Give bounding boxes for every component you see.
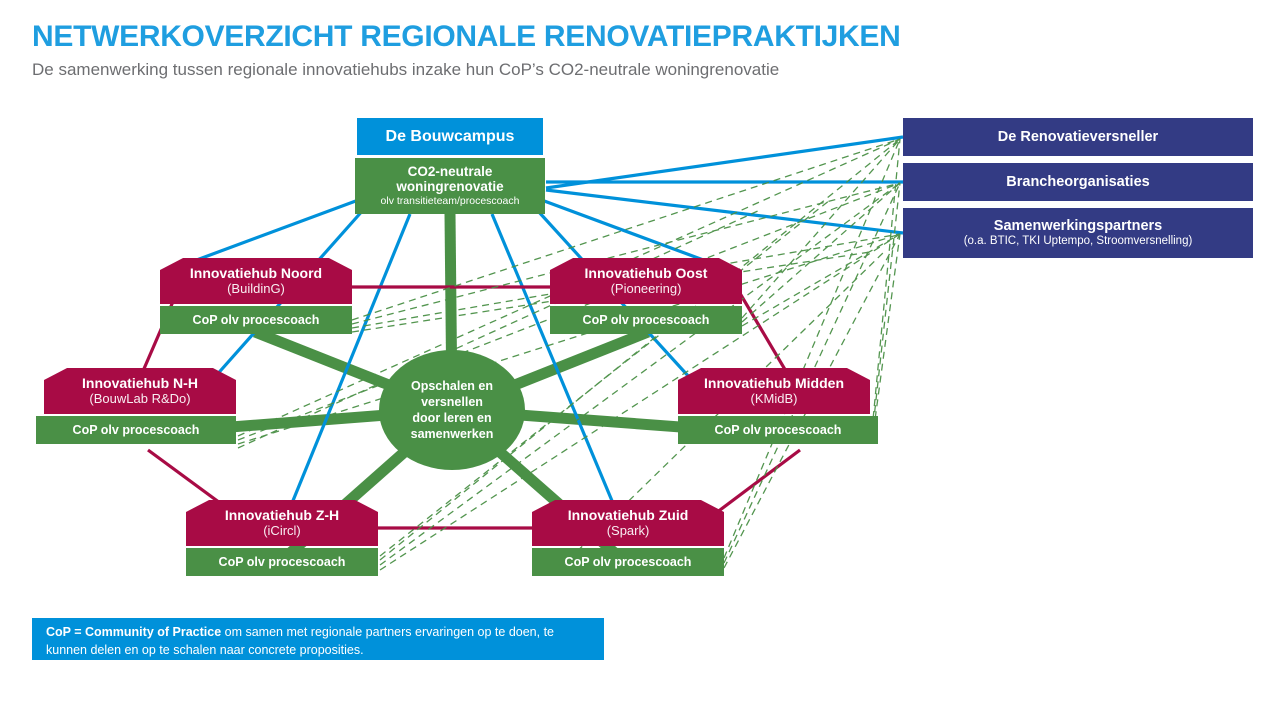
hub-zuid-header[interactable]: Innovatiehub Zuid (Spark)	[532, 500, 724, 546]
hub-zuid-org: (Spark)	[607, 524, 650, 539]
node-hub-zuid[interactable]: Innovatiehub Zuid (Spark) CoP olv proces…	[532, 500, 724, 576]
node-hub-noord[interactable]: Innovatiehub Noord (BuildinG) CoP olv pr…	[160, 258, 352, 334]
hub-noord-cop[interactable]: CoP olv procescoach	[160, 306, 352, 334]
hub-zuid-cop[interactable]: CoP olv procescoach	[532, 548, 724, 576]
partner-2-label: Samenwerkingspartners	[994, 218, 1162, 235]
partner-2-detail: (o.a. BTIC, TKI Uptempo, Stroomversnelli…	[964, 235, 1193, 248]
legend-lead: CoP = Community of Practice	[46, 625, 221, 639]
blue-edge-bouwcampus-noord	[175, 192, 380, 268]
node-partner-de-renovatieversneller[interactable]: De Renovatieversneller	[903, 118, 1253, 156]
hub-noord-cop-label: CoP olv procescoach	[193, 313, 320, 327]
hub-zh-name: Innovatiehub Z-H	[225, 508, 339, 524]
hub-noord-name: Innovatiehub Noord	[190, 266, 322, 282]
hub-nh-org: (BouwLab R&Do)	[89, 392, 190, 407]
hub-noord-header[interactable]: Innovatiehub Noord (BuildinG)	[160, 258, 352, 304]
hub-nh-header[interactable]: Innovatiehub N-H (BouwLab R&Do)	[44, 368, 236, 414]
hub-midden-cop-label: CoP olv procescoach	[715, 423, 842, 437]
node-center-goal[interactable]: Opschalen en versnellen door leren en sa…	[379, 350, 525, 470]
node-hub-zuid-holland[interactable]: Innovatiehub Z-H (iCircl) CoP olv proces…	[186, 500, 378, 576]
node-de-bouwcampus[interactable]: De Bouwcampus	[357, 118, 543, 155]
node-co2-title-line2: woningrenovatie	[396, 179, 503, 194]
hub-midden-cop[interactable]: CoP olv procescoach	[678, 416, 878, 444]
hub-zuid-cop-label: CoP olv procescoach	[565, 555, 692, 569]
hub-oost-org: (Pioneering)	[611, 282, 682, 297]
diagram-edges	[0, 0, 1280, 720]
hub-midden-name: Innovatiehub Midden	[704, 376, 844, 392]
node-hub-noord-holland[interactable]: Innovatiehub N-H (BouwLab R&Do) CoP olv …	[44, 368, 236, 444]
hub-oost-header[interactable]: Innovatiehub Oost (Pioneering)	[550, 258, 742, 304]
hub-zh-org: (iCircl)	[263, 524, 301, 539]
legend-cop-definition: CoP = Community of Practice om samen met…	[32, 618, 604, 660]
dashed-midden-samenwerkingspartners	[872, 234, 900, 442]
hub-zuid-name: Innovatiehub Zuid	[568, 508, 689, 524]
hub-nh-cop[interactable]: CoP olv procescoach	[36, 416, 236, 444]
node-hub-oost[interactable]: Innovatiehub Oost (Pioneering) CoP olv p…	[550, 258, 742, 334]
hub-nh-cop-label: CoP olv procescoach	[73, 423, 200, 437]
node-partner-samenwerkingspartners[interactable]: Samenwerkingspartners (o.a. BTIC, TKI Up…	[903, 208, 1253, 258]
hub-midden-header[interactable]: Innovatiehub Midden (KMidB)	[678, 368, 870, 414]
node-partner-brancheorganisaties[interactable]: Brancheorganisaties	[903, 163, 1253, 201]
partner-1-label: Brancheorganisaties	[1006, 174, 1149, 191]
hub-oost-name: Innovatiehub Oost	[585, 266, 708, 282]
dashed-midden-brancheorganisaties	[872, 183, 900, 436]
dashed-zuid-renovatieversneller	[724, 139, 900, 558]
node-center-line2: versnellen	[411, 394, 494, 410]
node-center-line3: door leren en	[411, 410, 494, 426]
hub-oost-cop-label: CoP olv procescoach	[583, 313, 710, 327]
node-center-line4: samenwerken	[411, 426, 494, 442]
hub-noord-org: (BuildinG)	[227, 282, 285, 297]
node-co2-title-line1: CO2-neutrale	[408, 164, 493, 179]
node-de-bouwcampus-label: De Bouwcampus	[386, 128, 515, 146]
node-center-label: Opschalen en versnellen door leren en sa…	[411, 378, 494, 442]
hub-zh-header[interactable]: Innovatiehub Z-H (iCircl)	[186, 500, 378, 546]
hub-nh-name: Innovatiehub N-H	[82, 376, 198, 392]
node-co2-subtitle: olv transitieteam/procescoach	[381, 196, 520, 208]
hub-zh-cop-label: CoP olv procescoach	[219, 555, 346, 569]
network-diagram: De Bouwcampus CO2-neutrale woningrenovat…	[0, 0, 1280, 720]
hub-midden-org: (KMidB)	[751, 392, 798, 407]
node-center-line1: Opschalen en	[411, 378, 494, 394]
node-hub-midden[interactable]: Innovatiehub Midden (KMidB) CoP olv proc…	[678, 368, 870, 444]
node-co2-neutrale-woningrenovatie[interactable]: CO2-neutrale woningrenovatie olv transit…	[355, 158, 545, 214]
hub-oost-cop[interactable]: CoP olv procescoach	[550, 306, 742, 334]
partner-0-label: De Renovatieversneller	[998, 129, 1158, 146]
blue-edge-bouwcampus-oost	[520, 192, 725, 268]
hub-zh-cop[interactable]: CoP olv procescoach	[186, 548, 378, 576]
